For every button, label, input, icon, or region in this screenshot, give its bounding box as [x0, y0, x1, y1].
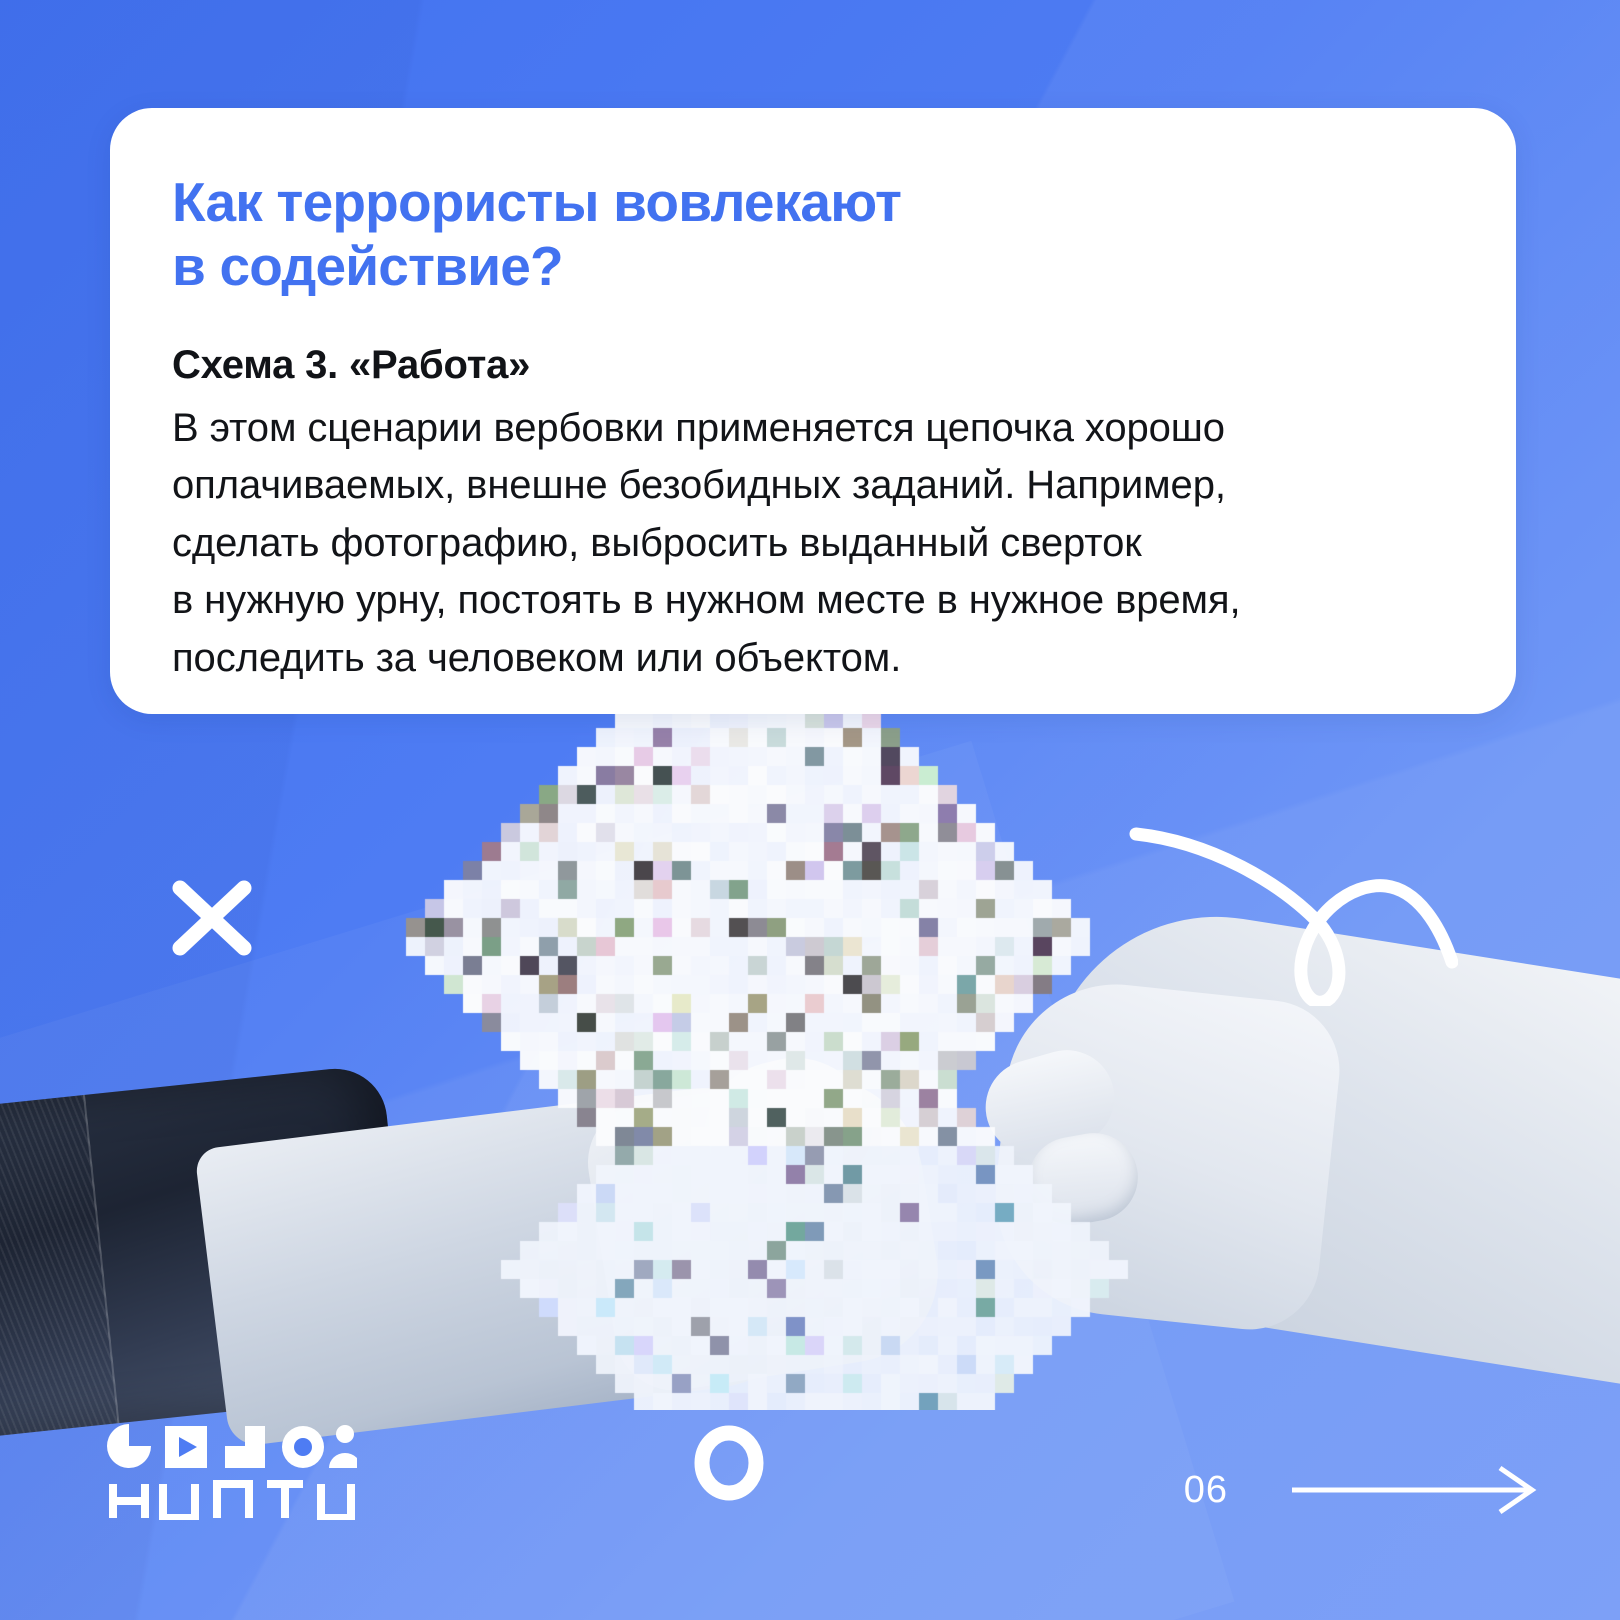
scheme-subtitle: Схема 3. «Работа» [172, 343, 1442, 388]
x-mark-icon [166, 872, 258, 964]
scheme-description: В этом сценарии вербовки применяется цеп… [172, 400, 1442, 688]
arrow-right-icon[interactable] [1290, 1464, 1540, 1516]
page-title: Как террористы вовлекают в содействие? [172, 170, 1442, 299]
slide-footer: 06 [1184, 1464, 1540, 1516]
pixelated-document [330, 690, 1160, 1410]
logo-glyph-row [107, 1424, 357, 1468]
content-card: Как террористы вовлекают в содействие? С… [110, 108, 1516, 714]
nptsi-logo[interactable]: НЦПТИ [107, 1424, 357, 1520]
loop-squiggle-icon [1118, 786, 1458, 1006]
ring-icon [692, 1424, 766, 1502]
logo-wordmark [113, 1484, 351, 1520]
page-number: 06 [1184, 1469, 1228, 1512]
slide-canvas: Как террористы вовлекают в содействие? С… [0, 0, 1620, 1620]
